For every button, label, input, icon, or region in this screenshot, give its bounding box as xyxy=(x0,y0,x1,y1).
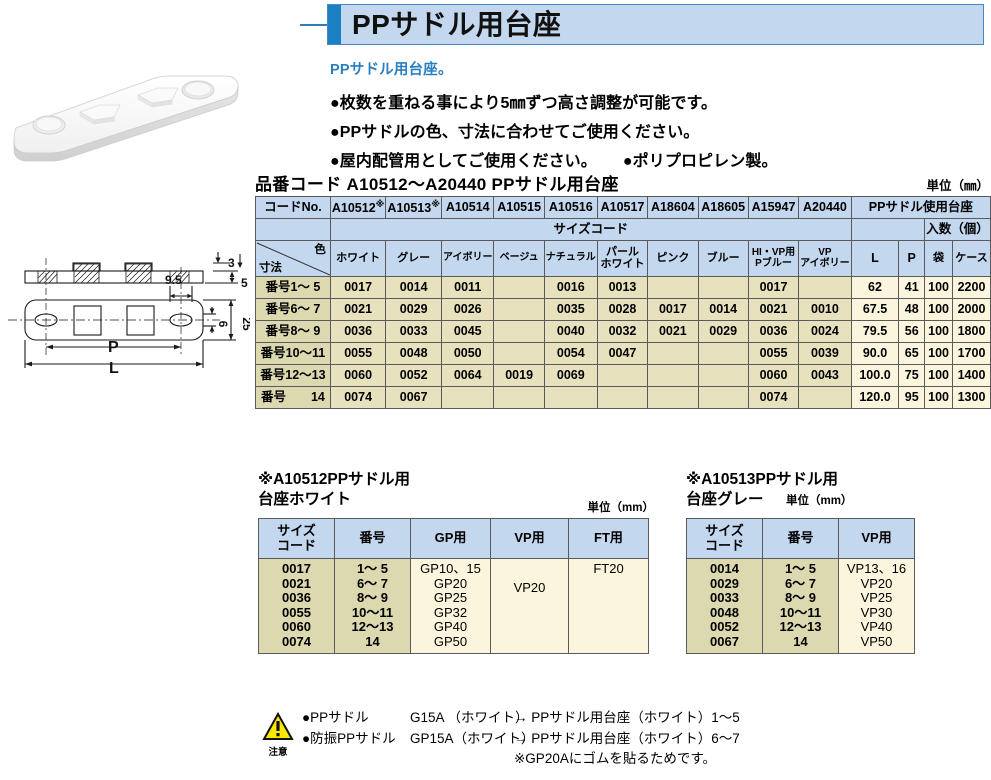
sub-table-2-section: ※A10513PPサドル用 台座グレー 単位（mm） サイズコード 番号 VP用… xyxy=(686,470,986,654)
row-cell: 0045 xyxy=(441,321,494,343)
row-cell-P: 48 xyxy=(899,299,925,321)
warning-icon-block: 注意 xyxy=(258,712,298,758)
sub2-no: 8〜 9 xyxy=(763,591,838,606)
row-cell xyxy=(494,387,544,409)
sub2-code: 0052 xyxy=(687,620,762,635)
sub2-no-column: 1〜 5 6〜 7 8〜 9 10〜11 12〜13 14 xyxy=(763,559,839,654)
row-cell: 0043 xyxy=(799,365,852,387)
sub-table-1-body-row: 0017 0021 0036 0055 0060 0074 1〜 5 6〜 7 … xyxy=(259,559,649,654)
row-cell-P: 56 xyxy=(899,321,925,343)
row-cell: 0035 xyxy=(544,299,597,321)
row-cell xyxy=(494,277,544,299)
header-color-hivp-pblue: HI・VP用Pブルー xyxy=(748,241,798,277)
row-label: 番号8〜 9 xyxy=(256,321,331,343)
sub-table-1-header-row: サイズコード 番号 GP用 VP用 FT用 xyxy=(259,519,649,559)
row-cell: 0021 xyxy=(330,299,386,321)
header-blank-1 xyxy=(256,219,331,241)
row-cell-L: 90.0 xyxy=(851,343,899,365)
header-corner-dim-color: 色 寸法 xyxy=(256,241,331,277)
row-cell-case: 1400 xyxy=(953,365,991,387)
sub-table-1-section: ※A10512PPサドル用 台座ホワイト 単位（mm） サイズコード 番号 GP… xyxy=(258,470,658,654)
dim-label-6: 6 xyxy=(216,321,230,328)
page-title: PPサドル用台座 xyxy=(352,5,561,46)
header-code-a20440: A20440 xyxy=(799,197,852,219)
header-code-a15947: A15947 xyxy=(748,197,798,219)
row-cell xyxy=(494,299,544,321)
dim-label-5: 5 xyxy=(241,276,248,290)
row-cell xyxy=(544,387,597,409)
sub1-gp: GP40 xyxy=(411,620,490,635)
sub2-vp: VP13、16 xyxy=(839,562,914,577)
sub2-vp: VP20 xyxy=(839,577,914,592)
row-cell: 0060 xyxy=(748,365,798,387)
row-cell: 0055 xyxy=(748,343,798,365)
row-cell: 0029 xyxy=(698,321,748,343)
row-cell-P: 75 xyxy=(899,365,925,387)
intro-bullet-1: ●枚数を重ねる事により5㎜ずつ高さ調整が可能です。 xyxy=(330,89,980,113)
row-cell-bag: 100 xyxy=(925,343,953,365)
header-pack-case: ケース xyxy=(953,241,991,277)
note1-model: G15A （ホワイト） xyxy=(410,708,514,729)
row-cell: 0033 xyxy=(386,321,442,343)
sub-table-2-body-row: 0014 0029 0033 0048 0052 0067 1〜 5 6〜 7 … xyxy=(687,559,915,654)
note1-label: ●PPサドル xyxy=(302,708,410,729)
row-cell xyxy=(648,365,698,387)
intro-bullet-2: ●PPサドルの色、寸法に合わせてご使用ください。 xyxy=(330,118,980,142)
sub1-code: 0036 xyxy=(259,591,334,606)
sub2-no: 12〜13 xyxy=(763,620,838,635)
row-cell: 0074 xyxy=(330,387,386,409)
row-cell: 0048 xyxy=(386,343,442,365)
main-table: コードNo. A10512※ A10513※ A10514 A10515 A10… xyxy=(255,196,991,409)
sub2-vp-column: VP13、16 VP20 VP25 VP30 VP40 VP50 xyxy=(839,559,915,654)
sub2-header-size-code: サイズコード xyxy=(687,519,763,559)
row-cell: 0047 xyxy=(597,343,647,365)
row-cell: 0040 xyxy=(544,321,597,343)
note2-model: GP15A（ホワイト） xyxy=(410,729,514,750)
sub-table-2-unit: 単位（mm） xyxy=(786,495,852,507)
row-cell xyxy=(648,277,698,299)
sub2-code: 0067 xyxy=(687,635,762,650)
footer-note-line-3: ※GP20Aにゴムを貼るためです。 xyxy=(302,749,740,770)
sub1-gp: GP25 xyxy=(411,591,490,606)
footer-note-line-2: ●防振PPサドルGP15A（ホワイト）→ PPサドル用台座（ホワイト）6〜7 xyxy=(302,729,740,750)
title-leader-line xyxy=(300,24,328,26)
sub2-header-vp: VP用 xyxy=(839,519,915,559)
header-code-a10514: A10514 xyxy=(441,197,494,219)
page-title-bar: PPサドル用台座 xyxy=(327,4,984,45)
table-row: 番号8〜 9 0036 0033 0045 0040 0032 0021 002… xyxy=(256,321,991,343)
row-cell-bag: 100 xyxy=(925,277,953,299)
sub1-no: 1〜 5 xyxy=(335,562,410,577)
row-cell xyxy=(441,387,494,409)
sub-table-2: サイズコード 番号 VP用 0014 0029 0033 0048 0052 0… xyxy=(686,518,915,654)
row-cell: 0017 xyxy=(330,277,386,299)
sub1-header-ft: FT用 xyxy=(569,519,649,559)
header-color-pink: ピンク xyxy=(648,241,698,277)
sub2-no: 1〜 5 xyxy=(763,562,838,577)
sub1-header-gp: GP用 xyxy=(411,519,491,559)
sub1-vp-column: VP20 xyxy=(491,559,569,654)
sub1-no: 8〜 9 xyxy=(335,591,410,606)
table-row: 番号 14 0074 0067 0074 120.0 95 100 1300 xyxy=(256,387,991,409)
note3-text: ※GP20Aにゴムを貼るためです。 xyxy=(514,751,716,766)
intro-bullet-3b: ●ポリプロピレン製。 xyxy=(623,153,778,170)
row-label: 番号10〜11 xyxy=(256,343,331,365)
main-table-caption: 品番コード A10512〜A20440 PPサドル用台座 xyxy=(255,175,619,194)
header-dim-P: P xyxy=(899,241,925,277)
intro-block: PPサドル用台座。 ●枚数を重ねる事により5㎜ずつ高さ調整が可能です。 ●PPサ… xyxy=(330,58,980,176)
main-table-unit: 単位（㎜） xyxy=(926,175,989,194)
header-blank-2 xyxy=(851,219,924,241)
catalog-page: PPサドル用台座 xyxy=(0,0,991,780)
sub1-gp: GP32 xyxy=(411,606,490,621)
row-cell xyxy=(698,343,748,365)
sub1-vp: VP20 xyxy=(491,581,568,596)
table-row: 番号1〜 5 0017 0014 0011 0016 0013 0017 62 … xyxy=(256,277,991,299)
header-color-ivory: アイボリー xyxy=(441,241,494,277)
table-row: 番号12〜13 0060 0052 0064 0019 0069 0060 00… xyxy=(256,365,991,387)
sub2-code: 0014 xyxy=(687,562,762,577)
sub1-header-no: 番号 xyxy=(335,519,411,559)
note2-target: → PPサドル用台座（ホワイト）6〜7 xyxy=(514,731,740,746)
row-cell: 0021 xyxy=(748,299,798,321)
main-table-header-row-codes: コードNo. A10512※ A10513※ A10514 A10515 A10… xyxy=(256,197,991,219)
sub2-header-no: 番号 xyxy=(763,519,839,559)
sub2-code-column: 0014 0029 0033 0048 0052 0067 xyxy=(687,559,763,654)
sub2-code: 0029 xyxy=(687,577,762,592)
row-cell-bag: 100 xyxy=(925,299,953,321)
sub1-gp-column: GP10、15 GP20 GP25 GP32 GP40 GP50 xyxy=(411,559,491,654)
header-color-beige: ベージュ xyxy=(494,241,544,277)
row-cell-P: 65 xyxy=(899,343,925,365)
sub2-no: 6〜 7 xyxy=(763,577,838,592)
intro-bullet-3: ●屋内配管用としてご使用ください。●ポリプロピレン製。 xyxy=(330,147,980,171)
row-cell: 0074 xyxy=(748,387,798,409)
header-code-a18604: A18604 xyxy=(648,197,698,219)
dim-label-9-5: 9.5 xyxy=(165,273,182,287)
sub1-header-vp: VP用 xyxy=(491,519,569,559)
row-cell xyxy=(698,387,748,409)
header-color-white: ホワイト xyxy=(330,241,386,277)
header-code-a18605: A18605 xyxy=(698,197,748,219)
header-color-gray: グレー xyxy=(386,241,442,277)
header-pack-bag: 袋 xyxy=(925,241,953,277)
main-table-section: 品番コード A10512〜A20440 PPサドル用台座 単位（㎜） コードNo… xyxy=(255,170,991,409)
row-cell: 0021 xyxy=(648,321,698,343)
sub1-gp: GP50 xyxy=(411,635,490,650)
row-cell-L: 62 xyxy=(851,277,899,299)
row-cell: 0050 xyxy=(441,343,494,365)
title-accent-bar xyxy=(328,5,341,44)
row-cell: 0064 xyxy=(441,365,494,387)
sub2-code: 0048 xyxy=(687,606,762,621)
dimension-drawing: 3 5 9.5 6 25 P L xyxy=(0,222,250,382)
row-cell-P: 41 xyxy=(899,277,925,299)
row-cell-case: 2000 xyxy=(953,299,991,321)
sub1-code: 0074 xyxy=(259,635,334,650)
row-cell: 0069 xyxy=(544,365,597,387)
header-group-usage: PPサドル使用台座 xyxy=(851,197,990,219)
row-label: 番号1〜 5 xyxy=(256,277,331,299)
row-cell-bag: 100 xyxy=(925,365,953,387)
row-cell: 0055 xyxy=(330,343,386,365)
sub1-code: 0017 xyxy=(259,562,334,577)
header-size-code: サイズコード xyxy=(330,219,851,241)
sub-table-2-title-line2: 台座グレー xyxy=(686,491,764,508)
warning-triangle-icon xyxy=(262,712,294,741)
sub2-no: 14 xyxy=(763,635,838,650)
row-cell: 0017 xyxy=(748,277,798,299)
corner-label-dim: 寸法 xyxy=(259,262,282,274)
header-dim-L: L xyxy=(851,241,899,277)
row-cell-case: 1700 xyxy=(953,343,991,365)
row-cell: 0028 xyxy=(597,299,647,321)
row-cell xyxy=(597,387,647,409)
row-cell xyxy=(698,365,748,387)
row-cell-case: 1300 xyxy=(953,387,991,409)
header-code-a10515: A10515 xyxy=(494,197,544,219)
row-cell: 0026 xyxy=(441,299,494,321)
row-cell-P: 95 xyxy=(899,387,925,409)
row-cell: 0011 xyxy=(441,277,494,299)
row-cell-case: 1800 xyxy=(953,321,991,343)
warning-caption: 注意 xyxy=(258,744,298,758)
row-cell xyxy=(698,277,748,299)
row-cell: 0032 xyxy=(597,321,647,343)
row-cell-bag: 100 xyxy=(925,321,953,343)
row-label: 番号12〜13 xyxy=(256,365,331,387)
footer-note-line-1: ●PPサドルG15A （ホワイト）→ PPサドル用台座（ホワイト）1〜5 xyxy=(302,708,740,729)
dim-label-L: L xyxy=(109,360,119,377)
header-color-pearl-white: パールホワイト xyxy=(597,241,647,277)
sub1-code: 0060 xyxy=(259,620,334,635)
header-color-natural: ナチュラル xyxy=(544,241,597,277)
sub1-ft: FT20 xyxy=(569,562,648,577)
sub-table-2-title-line1: ※A10513PPサドル用 xyxy=(686,470,986,490)
row-cell: 0024 xyxy=(799,321,852,343)
header-code-no: コードNo. xyxy=(256,197,331,219)
header-color-blue: ブルー xyxy=(698,241,748,277)
row-cell: 0016 xyxy=(544,277,597,299)
row-cell xyxy=(494,321,544,343)
sub1-no: 14 xyxy=(335,635,410,650)
header-code-a10517: A10517 xyxy=(597,197,647,219)
row-cell-bag: 100 xyxy=(925,387,953,409)
header-pack-count: 入数（個） xyxy=(925,219,991,241)
sub1-code-column: 0017 0021 0036 0055 0060 0074 xyxy=(259,559,335,654)
header-code-a10513: A10513※ xyxy=(386,197,442,219)
main-table-header-row-colors: 色 寸法 ホワイト グレー アイボリー ベージュ ナチュラル パールホワイト ピ… xyxy=(256,241,991,277)
row-cell: 0036 xyxy=(330,321,386,343)
sub1-gp: GP10、15 xyxy=(411,562,490,577)
note2-label: ●防振PPサドル xyxy=(302,729,410,750)
row-cell: 0039 xyxy=(799,343,852,365)
row-cell-L: 100.0 xyxy=(851,365,899,387)
intro-bullet-3a: ●屋内配管用としてご使用ください。 xyxy=(330,153,597,170)
sub2-no: 10〜11 xyxy=(763,606,838,621)
row-cell: 0036 xyxy=(748,321,798,343)
row-label: 番号 14 xyxy=(256,387,331,409)
row-cell: 0052 xyxy=(386,365,442,387)
row-label: 番号6〜 7 xyxy=(256,299,331,321)
corner-label-color: 色 xyxy=(314,244,326,256)
table-row: 番号6〜 7 0021 0029 0026 0035 0028 0017 001… xyxy=(256,299,991,321)
sub-table-2-header-row: サイズコード 番号 VP用 xyxy=(687,519,915,559)
sub1-code: 0055 xyxy=(259,606,334,621)
row-cell: 0054 xyxy=(544,343,597,365)
row-cell-L: 120.0 xyxy=(851,387,899,409)
row-cell xyxy=(799,277,852,299)
sub1-no: 12〜13 xyxy=(335,620,410,635)
intro-lead: PPサドル用台座。 xyxy=(330,58,980,79)
sub2-vp: VP40 xyxy=(839,620,914,635)
sub2-code: 0033 xyxy=(687,591,762,606)
dim-label-25: 25 xyxy=(240,317,250,331)
row-cell-L: 79.5 xyxy=(851,321,899,343)
footer-note-lines: ●PPサドルG15A （ホワイト）→ PPサドル用台座（ホワイト）1〜5 ●防振… xyxy=(302,708,740,770)
row-cell: 0013 xyxy=(597,277,647,299)
sub1-no-column: 1〜 5 6〜 7 8〜 9 10〜11 12〜13 14 xyxy=(335,559,411,654)
main-table-header-row-sizecode: サイズコード 入数（個） xyxy=(256,219,991,241)
dim-label-P: P xyxy=(108,339,119,356)
sub1-no: 10〜11 xyxy=(335,606,410,621)
sub1-no: 6〜 7 xyxy=(335,577,410,592)
row-cell-case: 2200 xyxy=(953,277,991,299)
sub-table-1-title-line1: ※A10512PPサドル用 xyxy=(258,470,658,490)
sub-table-1-unit: 単位（mm） xyxy=(588,499,654,515)
sub1-ft-column: FT20 xyxy=(569,559,649,654)
row-cell-L: 67.5 xyxy=(851,299,899,321)
sub-table-2-title-line2-row: 台座グレー 単位（mm） xyxy=(686,490,986,510)
row-cell: 0010 xyxy=(799,299,852,321)
sub2-vp: VP30 xyxy=(839,606,914,621)
row-cell: 0060 xyxy=(330,365,386,387)
sub1-gp: GP20 xyxy=(411,577,490,592)
row-cell xyxy=(494,343,544,365)
sub1-header-size-code: サイズコード xyxy=(259,519,335,559)
row-cell xyxy=(799,387,852,409)
sub-table-1: サイズコード 番号 GP用 VP用 FT用 0017 0021 0036 005… xyxy=(258,518,649,654)
product-photo xyxy=(2,62,248,177)
row-cell xyxy=(648,343,698,365)
header-color-vp-ivory: VPアイボリー xyxy=(799,241,852,277)
header-code-a10516: A10516 xyxy=(544,197,597,219)
dim-label-3: 3 xyxy=(228,256,235,270)
row-cell: 0014 xyxy=(386,277,442,299)
sub2-vp: VP50 xyxy=(839,635,914,650)
sub1-code: 0021 xyxy=(259,577,334,592)
table-row: 番号10〜11 0055 0048 0050 0054 0047 0055 00… xyxy=(256,343,991,365)
row-cell xyxy=(597,365,647,387)
header-code-a10512: A10512※ xyxy=(330,197,386,219)
row-cell: 0029 xyxy=(386,299,442,321)
row-cell: 0019 xyxy=(494,365,544,387)
sub2-vp: VP25 xyxy=(839,591,914,606)
row-cell: 0017 xyxy=(648,299,698,321)
note1-target: → PPサドル用台座（ホワイト）1〜5 xyxy=(514,710,740,725)
row-cell: 0067 xyxy=(386,387,442,409)
row-cell: 0014 xyxy=(698,299,748,321)
row-cell xyxy=(648,387,698,409)
